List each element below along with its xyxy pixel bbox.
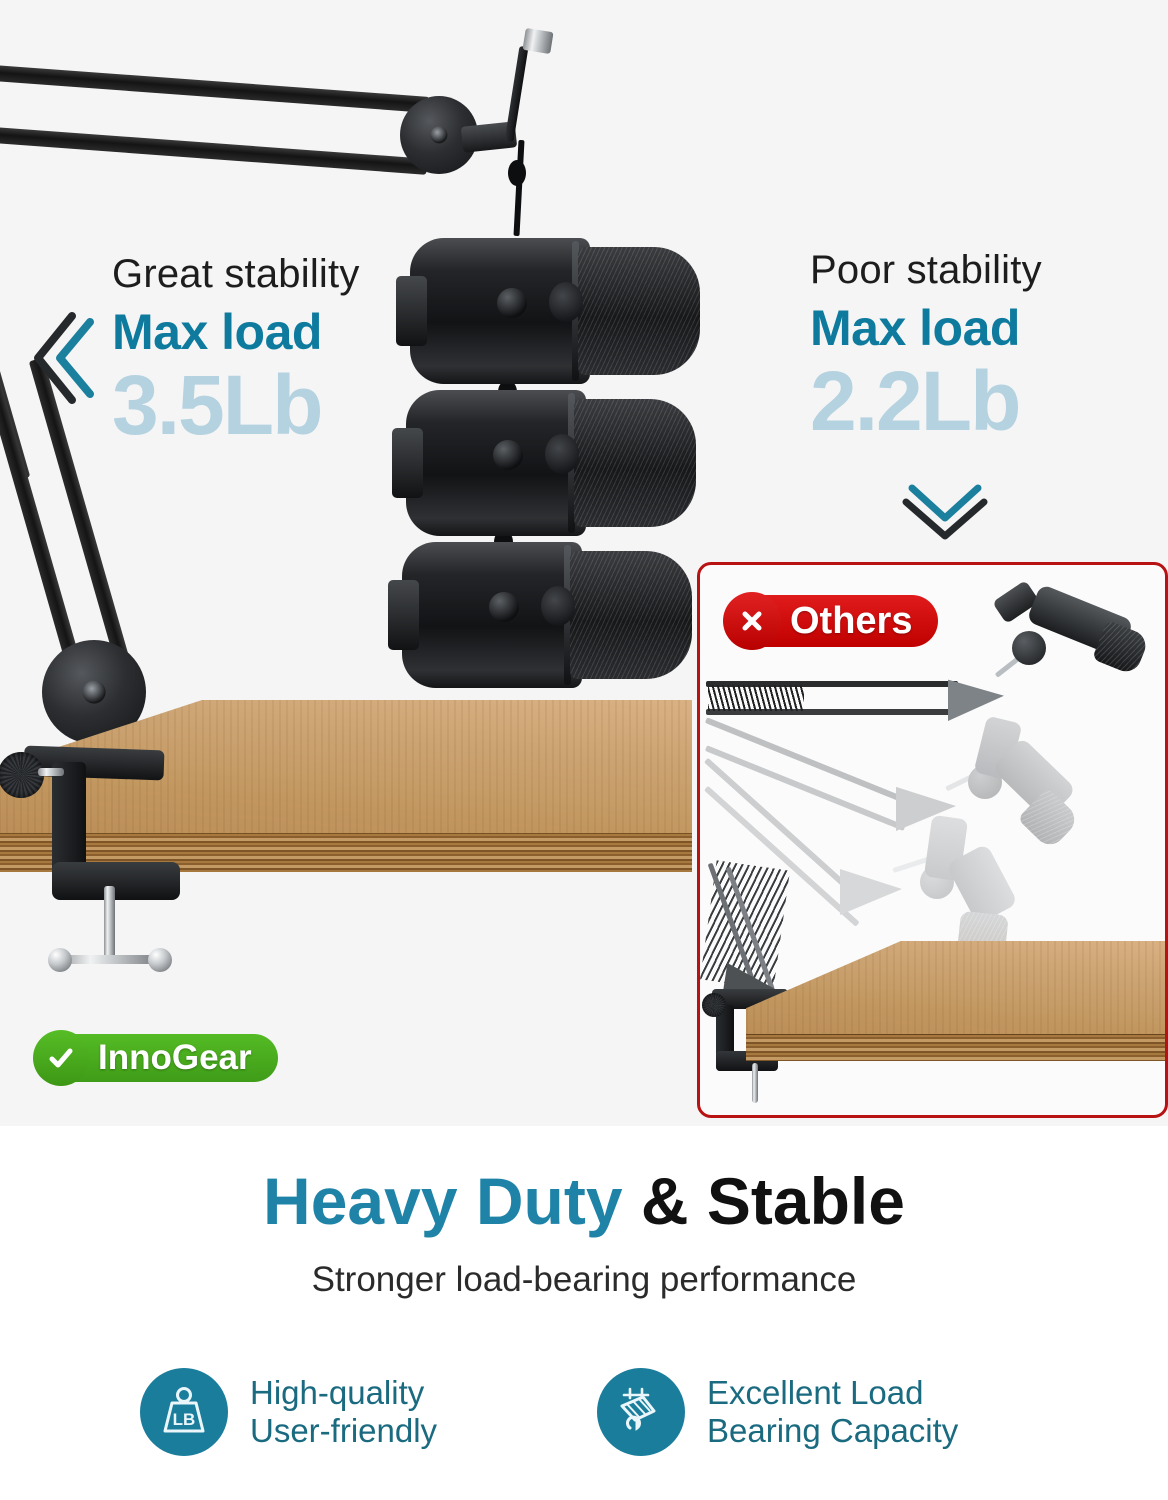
competitor-desk-surface [746, 941, 1168, 1061]
right-stability-labels: Poor stability Max load 2.2Lb [810, 250, 1042, 442]
feature-1-line2: User-friendly [250, 1412, 437, 1449]
double-chevron-down-icon [898, 482, 992, 544]
lb-weight-icon: LB [140, 1368, 228, 1456]
competitor-microphone-1 [990, 583, 1142, 691]
headline-primary: Heavy Duty [263, 1164, 623, 1238]
poor-stability-label: Poor stability [810, 250, 1042, 290]
feature-1-text: High-quality User-friendly [250, 1374, 437, 1451]
comparison-panel: Great stability Max load 3.5Lb Poor stab… [0, 0, 1168, 1126]
page-subheadline: Stronger load-bearing performance [0, 1262, 1168, 1297]
feature-1-line1: High-quality [250, 1374, 424, 1411]
others-comparison-frame: Others [697, 562, 1168, 1118]
page-headline: Heavy Duty & Stable [0, 1168, 1168, 1234]
benefits-section: Heavy Duty & Stable Stronger load-bearin… [0, 1126, 1168, 1500]
right-max-load-value: 2.2Lb [810, 361, 1042, 442]
innogear-badge: InnoGear [36, 1034, 278, 1082]
mic-mount-screw [522, 28, 553, 54]
microphone-2 [406, 390, 696, 536]
x-circle-icon [723, 592, 781, 650]
great-stability-label: Great stability [112, 254, 360, 294]
feature-2-text: Excellent Load Bearing Capacity [707, 1374, 958, 1451]
product-feature-image: Great stability Max load 3.5Lb Poor stab… [0, 0, 1168, 1500]
others-badge: Others [726, 595, 938, 647]
clamp-screw-rod [104, 886, 115, 964]
feature-high-quality: LB High-quality User-friendly [140, 1368, 437, 1456]
crane-hook-icon [597, 1368, 685, 1456]
check-circle-icon [33, 1030, 89, 1086]
microphone-1 [410, 238, 700, 384]
feature-2-line2: Bearing Capacity [707, 1412, 958, 1449]
microphone-3 [402, 542, 692, 688]
double-chevron-left-icon [28, 308, 94, 408]
left-max-load-value: 3.5Lb [112, 365, 360, 446]
svg-text:LB: LB [173, 1410, 196, 1429]
clamp-knob[interactable] [0, 752, 44, 798]
feature-2-line1: Excellent Load [707, 1374, 923, 1411]
left-max-load-label: Max load [112, 306, 360, 359]
left-stability-labels: Great stability Max load 3.5Lb [112, 254, 360, 446]
innogear-badge-label: InnoGear [98, 1038, 252, 1078]
others-badge-label: Others [790, 600, 912, 643]
headline-secondary: & Stable [641, 1164, 905, 1238]
right-max-load-label: Max load [810, 302, 1042, 355]
feature-load-capacity: Excellent Load Bearing Capacity [597, 1368, 958, 1456]
